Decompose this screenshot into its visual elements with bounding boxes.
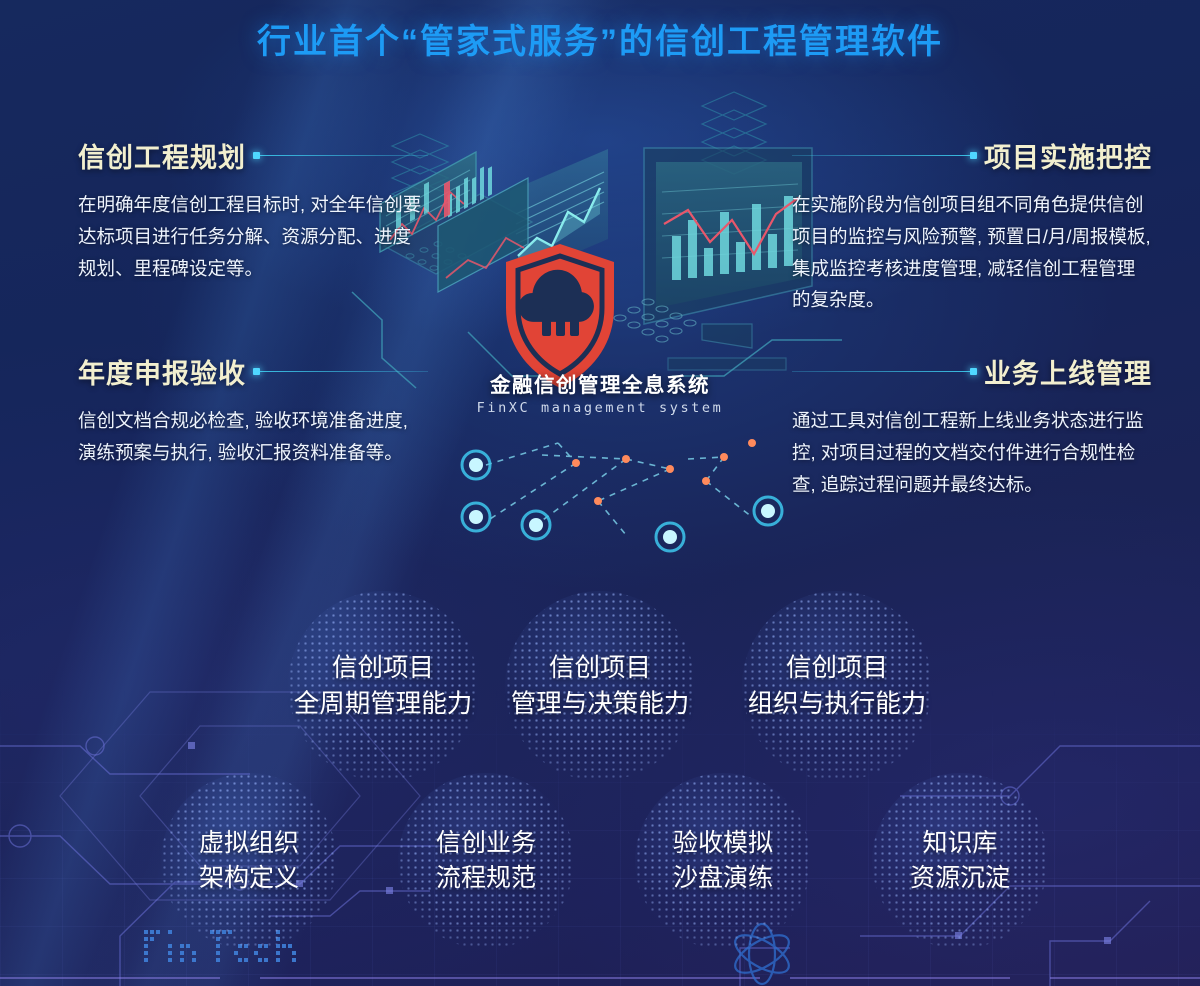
module-sphere-3: 验收模拟 沙盘演练 [635,773,811,949]
line-1: 验收模拟 [673,829,773,857]
feature-implementation-body: 在实施阶段为信创项目组不同角色提供信创项目的监控与风险预警, 预置日/月/周报模… [792,189,1152,316]
line-2: 全周期管理能力 [294,690,473,718]
connector-line [256,155,428,156]
feature-business-launch: 业务上线管理 通过工具对信创工程新上线业务状态进行监控, 对项目过程的文档交付件… [792,352,1152,500]
isometric-device-illustration [372,96,828,426]
module-sphere-1-label: 虚拟组织 架构定义 [199,826,299,897]
line-2: 沙盘演练 [673,864,773,892]
feature-annual-acceptance-body: 信创文档合规必检查, 验收环境准备进度, 演练预案与执行, 验收汇报资料准备等。 [78,405,428,469]
feature-business-launch-body: 通过工具对信创工程新上线业务状态进行监控, 对项目过程的文档交付件进行合规性检查… [792,405,1152,500]
infographic-canvas: 行业首个“管家式服务”的信创工程管理软件 [0,0,1200,986]
capability-sphere-1-label: 信创项目 全周期管理能力 [294,650,473,722]
module-sphere-4: 知识库 资源沉淀 [872,773,1048,949]
line-2: 资源沉淀 [910,864,1010,892]
line-1: 虚拟组织 [199,829,299,857]
feature-annual-acceptance: 年度申报验收 信创文档合规必检查, 验收环境准备进度, 演练预案与执行, 验收汇… [78,352,428,469]
module-sphere-3-label: 验收模拟 沙盘演练 [673,826,773,897]
feature-annual-acceptance-heading: 年度申报验收 [78,352,428,391]
capability-sphere-1: 信创项目 全周期管理能力 [288,591,478,781]
line-2: 流程规范 [436,864,536,892]
feature-implementation: 项目实施把控 在实施阶段为信创项目组不同角色提供信创项目的监控与风险预警, 预置… [792,136,1152,316]
capability-sphere-2: 信创项目 管理与决策能力 [505,591,695,781]
feature-annual-acceptance-title: 年度申报验收 [78,352,246,391]
feature-business-launch-heading: 业务上线管理 [792,352,1152,391]
line-1: 知识库 [922,829,997,857]
connector-line [792,371,974,372]
page-title: 行业首个“管家式服务”的信创工程管理软件 [0,14,1200,63]
connector-line [256,371,428,372]
line-1: 信创业务 [436,829,536,857]
line-1: 信创项目 [332,654,434,682]
line-2: 管理与决策能力 [511,690,690,718]
connector-line [792,155,974,156]
feature-implementation-heading: 项目实施把控 [792,136,1152,175]
line-2: 架构定义 [199,864,299,892]
module-sphere-4-label: 知识库 资源沉淀 [910,826,1010,897]
feature-implementation-title: 项目实施把控 [984,136,1152,175]
line-1: 信创项目 [786,654,888,682]
capability-sphere-3-label: 信创项目 组织与执行能力 [748,650,927,722]
line-2: 组织与执行能力 [748,690,927,718]
feature-planning: 信创工程规划 在明确年度信创工程目标时, 对全年信创要达标项目进行任务分解、资源… [78,136,428,284]
capability-sphere-2-label: 信创项目 管理与决策能力 [511,650,690,722]
module-sphere-1: 虚拟组织 架构定义 [161,773,337,949]
capability-sphere-3: 信创项目 组织与执行能力 [742,591,932,781]
line-1: 信创项目 [549,654,651,682]
feature-business-launch-title: 业务上线管理 [984,352,1152,391]
feature-planning-title: 信创工程规划 [78,136,246,175]
feature-planning-body: 在明确年度信创工程目标时, 对全年信创要达标项目进行任务分解、资源分配、进度规划… [78,189,428,284]
module-sphere-2: 信创业务 流程规范 [398,773,574,949]
feature-planning-heading: 信创工程规划 [78,136,428,175]
module-sphere-2-label: 信创业务 流程规范 [436,826,536,897]
node-network [430,425,830,555]
